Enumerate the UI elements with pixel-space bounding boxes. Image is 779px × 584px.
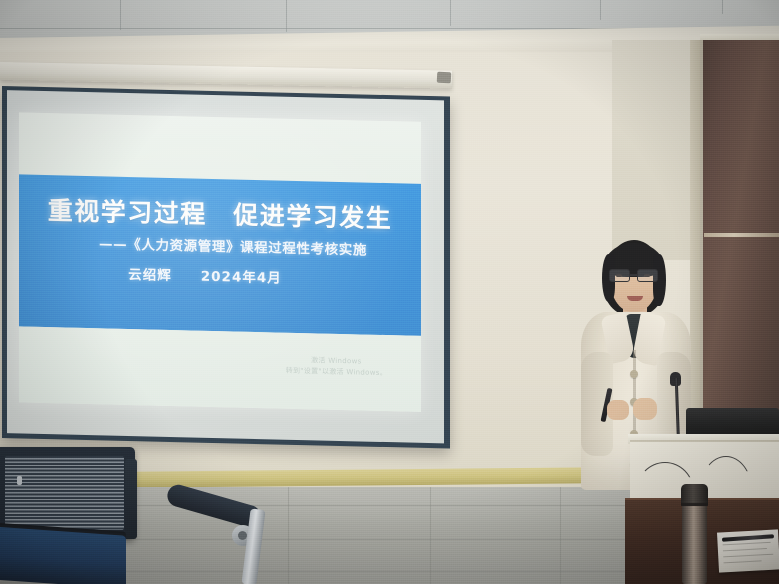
chair-front[interactable] — [0, 447, 142, 584]
presenter-mouth — [627, 296, 643, 301]
coat-button — [630, 370, 638, 378]
glasses-icon — [608, 269, 660, 282]
slide-top-band — [19, 112, 421, 183]
glasses-lens-right — [637, 269, 658, 282]
screen-surface: 重视学习过程 促进学习发生 ——《人力资源管理》课程过程性考核实施 云绍辉 20… — [7, 90, 444, 443]
projector-screen[interactable]: 重视学习过程 促进学习发生 ——《人力资源管理》课程过程性考核实施 云绍辉 20… — [2, 86, 450, 449]
chair-adjust-knob[interactable] — [17, 476, 22, 485]
chair-mesh-panel — [5, 456, 124, 530]
chair-armrest — [125, 459, 137, 539]
presenter-hand-left — [607, 400, 629, 420]
windows-activation-watermark: 激活 Windows 转到"设置"以激活 Windows。 — [286, 355, 387, 378]
door-handle — [704, 233, 779, 237]
projected-slide: 重视学习过程 促进学习发生 ——《人力资源管理》课程过程性考核实施 云绍辉 20… — [19, 112, 421, 411]
classroom-photo-scene: 重视学习过程 促进学习发生 ——《人力资源管理》课程过程性考核实施 云绍辉 20… — [0, 0, 779, 584]
glasses-bridge — [630, 274, 637, 276]
thermos-ring — [681, 503, 708, 506]
chair-seat — [0, 526, 126, 584]
glasses-lens-left — [609, 269, 630, 282]
presenter-hand-right — [633, 398, 657, 420]
chair-second[interactable] — [160, 495, 288, 584]
chair-second-bolt — [238, 531, 247, 540]
screen-roller-end-cap — [437, 72, 452, 84]
